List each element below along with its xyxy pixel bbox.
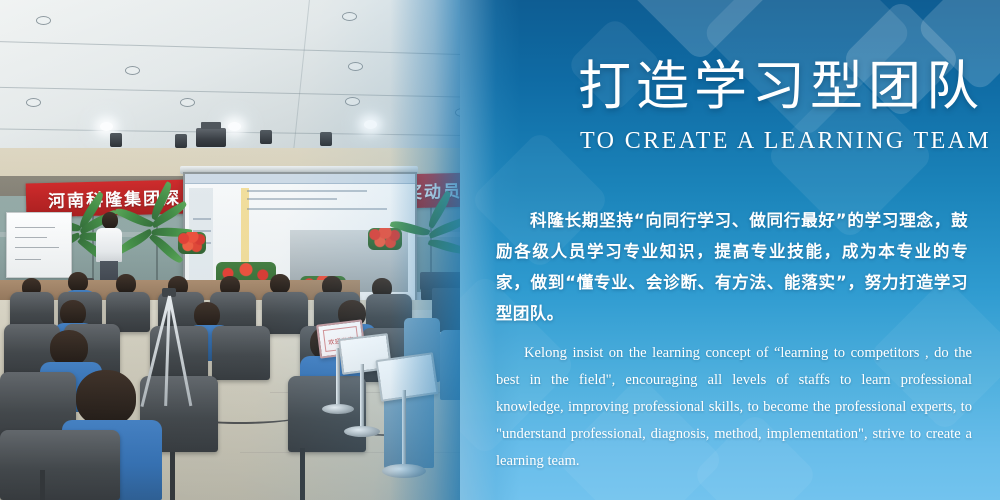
ceiling-lamp-lit bbox=[100, 122, 113, 131]
slide-line bbox=[247, 198, 337, 200]
body-paragraph-chinese: 科隆长期坚持“向同行学习、做同行最好”的学习理念，鼓励各级人员学习专业知识，提高… bbox=[496, 205, 968, 329]
ceiling-seam bbox=[0, 86, 500, 100]
stage-spotlight bbox=[110, 133, 122, 147]
slide-line bbox=[247, 190, 367, 192]
flower-arrangement bbox=[368, 228, 402, 250]
auditorium-chair-foreground bbox=[0, 430, 120, 500]
body-paragraph-english: Kelong insist on the learning concept of… bbox=[496, 340, 972, 475]
ceiling-downlight bbox=[180, 98, 195, 107]
stage-spotlight bbox=[320, 132, 332, 146]
ceiling-downlight bbox=[345, 97, 360, 106]
ceiling-seam bbox=[0, 40, 500, 58]
slide-toolbar bbox=[185, 174, 415, 184]
auditorium-chair bbox=[288, 376, 366, 452]
ceiling-downlight bbox=[348, 62, 363, 71]
conference-photo: 河南科隆集团深 量奖动员大会 bbox=[0, 0, 500, 500]
slide-line bbox=[247, 208, 387, 210]
headline-chinese: 打造学习型团队 bbox=[578, 60, 978, 113]
stage-spotlight bbox=[260, 130, 272, 144]
flower-arrangement bbox=[178, 232, 206, 254]
ceiling-projector-rig bbox=[196, 128, 226, 147]
headline-english: TO CREATE A LEARNING TEAM bbox=[580, 128, 991, 155]
ceiling-lamp-lit bbox=[364, 120, 377, 129]
ceiling-downlight bbox=[26, 98, 41, 107]
flipchart-board bbox=[6, 212, 72, 278]
text-panel: 打造学习型团队 TO CREATE A LEARNING TEAM 科隆长期坚持… bbox=[460, 0, 1000, 500]
ceiling-lamp-lit bbox=[228, 122, 241, 131]
slide-line bbox=[193, 218, 211, 220]
learning-team-banner: 河南科隆集团深 量奖动员大会 bbox=[0, 0, 1000, 500]
ceiling-downlight bbox=[342, 12, 357, 21]
ceiling-seam bbox=[0, 128, 500, 137]
ceiling-downlight bbox=[36, 16, 51, 25]
stage-spotlight bbox=[175, 134, 187, 148]
ceiling-downlight bbox=[125, 66, 140, 75]
auditorium-chair bbox=[212, 326, 270, 380]
